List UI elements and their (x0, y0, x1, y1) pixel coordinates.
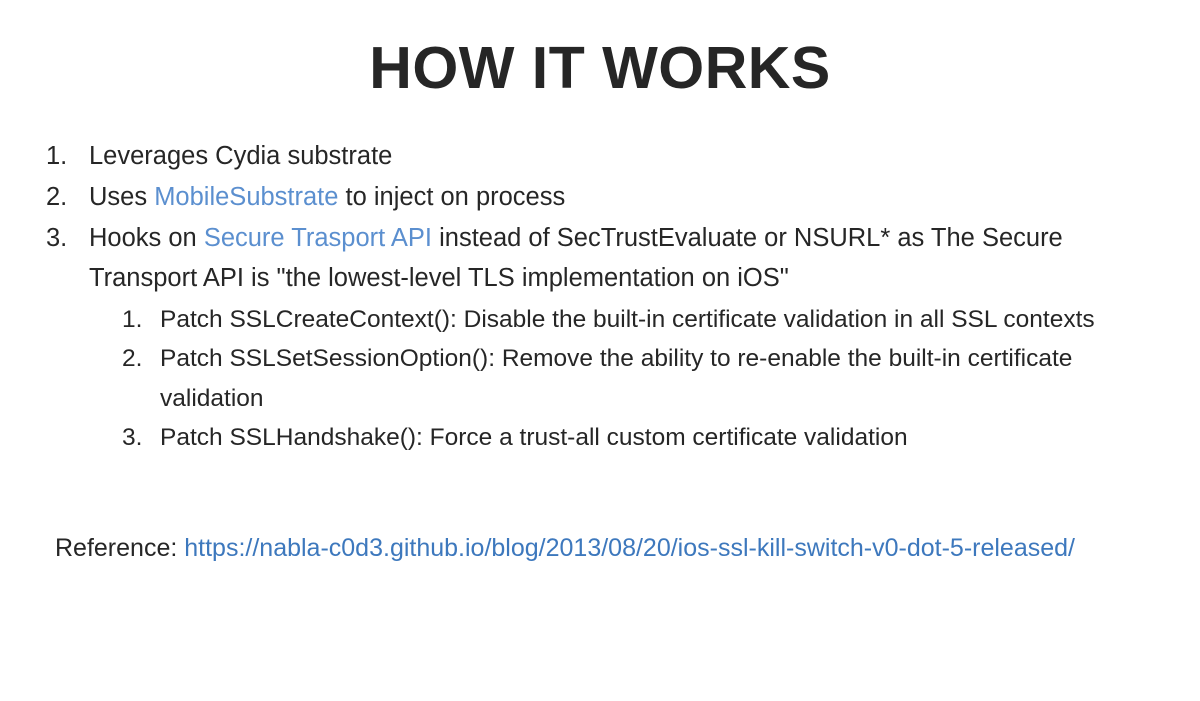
list-item: 1. Leverages Cydia substrate (44, 136, 1148, 177)
slide-body: 1. Leverages Cydia substrate 2. Uses Mob… (0, 136, 1200, 457)
reference-paragraph: Reference: https://nabla-c0d3.github.io/… (0, 528, 1200, 569)
list-item-text-pre: Hooks on (89, 224, 204, 252)
list-item-text: Patch SSLSetSessionOption(): Remove the … (160, 339, 1148, 417)
list-item-text-pre: Uses (89, 183, 154, 211)
reference-link[interactable]: https://nabla-c0d3.github.io/blog/2013/0… (184, 534, 1075, 562)
link-secure-transport-api[interactable]: Secure Trasport API (204, 224, 432, 252)
list-marker: 1. (122, 300, 152, 339)
list-marker: 1. (46, 136, 78, 177)
list-item-text: Uses MobileSubstrate to inject on proces… (89, 177, 1148, 218)
list-item-text: Patch SSLHandshake(): Force a trust-all … (160, 418, 1148, 457)
list-item: 2. Uses MobileSubstrate to inject on pro… (44, 177, 1148, 218)
list-item-text-post: to inject on process (338, 183, 565, 211)
list-item: 3. Hooks on Secure Trasport API instead … (44, 218, 1148, 457)
list-marker: 3. (122, 418, 152, 457)
ordered-list-level-2: 1. Patch SSLCreateContext(): Disable the… (89, 300, 1148, 457)
list-marker: 3. (46, 218, 78, 259)
list-item: 2. Patch SSLSetSessionOption(): Remove t… (122, 339, 1148, 417)
link-mobilesubstrate[interactable]: MobileSubstrate (154, 183, 338, 211)
list-item-text: Patch SSLCreateContext(): Disable the bu… (160, 300, 1148, 339)
ordered-list-level-1: 1. Leverages Cydia substrate 2. Uses Mob… (44, 136, 1148, 457)
page-title: HOW IT WORKS (0, 0, 1200, 101)
list-marker: 2. (122, 339, 152, 378)
list-item-text: Leverages Cydia substrate (89, 136, 1148, 177)
list-marker: 2. (46, 177, 78, 218)
list-item: 1. Patch SSLCreateContext(): Disable the… (122, 300, 1148, 339)
list-item: 3. Patch SSLHandshake(): Force a trust-a… (122, 418, 1148, 457)
reference-label: Reference: (55, 534, 184, 562)
slide-root: HOW IT WORKS 1. Leverages Cydia substrat… (0, 0, 1200, 701)
list-item-text: Hooks on Secure Trasport API instead of … (89, 218, 1148, 300)
list-item-text-pre: Leverages Cydia substrate (89, 142, 392, 170)
